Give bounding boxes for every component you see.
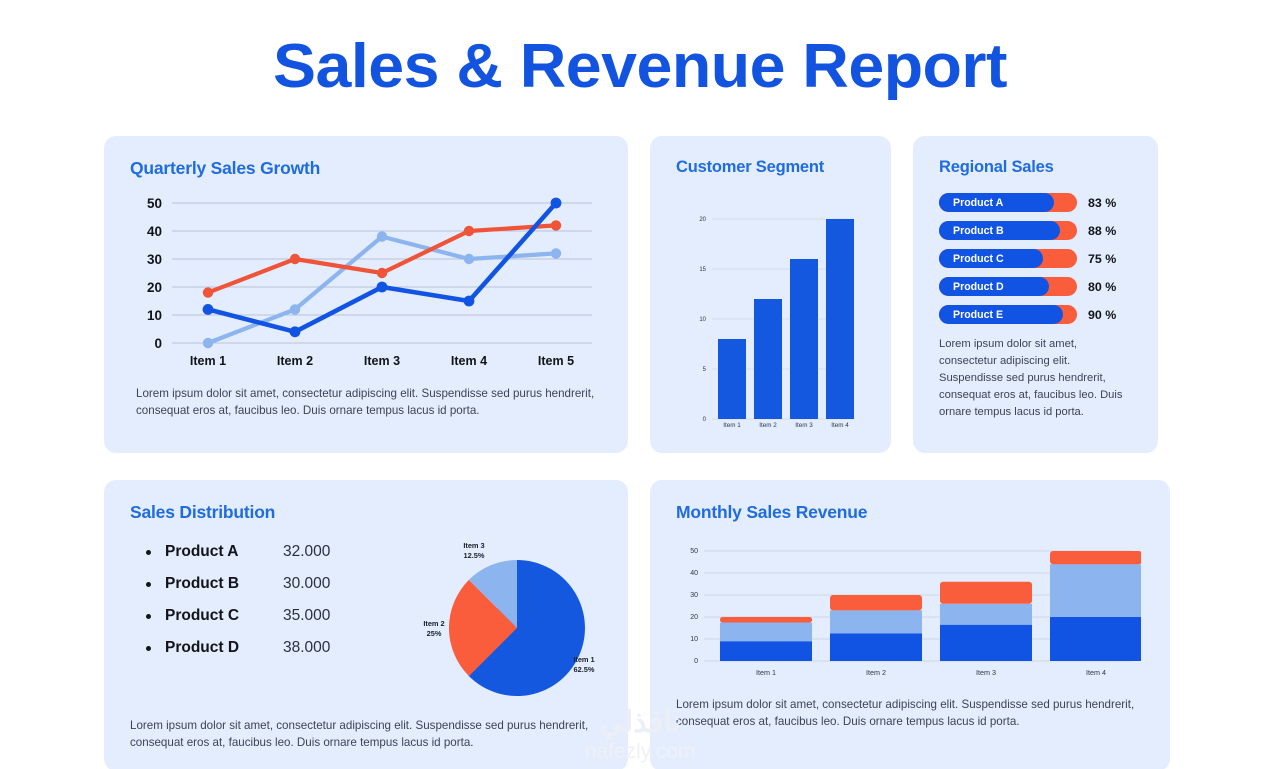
stack-seg-series-2 xyxy=(940,604,1032,625)
regional-bar-track: Product A xyxy=(939,193,1077,212)
pie-label-item-1-name: Item 1 xyxy=(573,655,594,664)
y-tick-0: 0 xyxy=(154,336,162,351)
x-tick-item-4: Item 4 xyxy=(831,422,849,428)
y-tick-50: 50 xyxy=(147,196,162,211)
x-tick-item-2: Item 2 xyxy=(759,422,777,428)
y-tick-0: 0 xyxy=(694,658,698,665)
bullet-icon xyxy=(146,646,151,651)
stack-item-2 xyxy=(830,595,922,661)
regional-bar-value: 83 % xyxy=(1088,196,1116,210)
y-tick-10: 10 xyxy=(690,636,698,643)
list-item: Product B 30.000 xyxy=(130,575,412,593)
regional-bar-row[interactable]: Product C 75 % xyxy=(939,249,1132,268)
y-tick-15: 15 xyxy=(699,267,706,273)
stack-seg-series-3 xyxy=(940,582,1032,604)
pie-chart-sales-distribution: Item 3 12.5% Item 2 25% Item 1 62.5% xyxy=(412,535,602,715)
x-tick-item-5: Item 5 xyxy=(538,354,574,368)
regional-bar-fill: Product C xyxy=(939,249,1043,268)
regional-bar-fill: Product B xyxy=(939,221,1060,240)
y-tick-10: 10 xyxy=(147,308,162,323)
card-regional-sales: Regional Sales Product A 83 % Product B xyxy=(913,136,1158,453)
regional-bar-fill: Product D xyxy=(939,277,1049,296)
card-monthly-sales-revenue: Monthly Sales Revenue 50 40 30 xyxy=(650,480,1170,769)
stack-seg-series-1 xyxy=(940,625,1032,661)
y-tick-10: 10 xyxy=(699,317,706,323)
dashboard-row-bottom: Sales Distribution Product A 32.000 Prod… xyxy=(0,480,1280,769)
dashboard-row-top: Quarterly Sales Growth 50 4 xyxy=(0,136,1280,453)
y-tick-0: 0 xyxy=(703,417,707,423)
y-tick-30: 30 xyxy=(690,592,698,599)
product-value: 32.000 xyxy=(283,543,330,561)
x-tick-item-1: Item 1 xyxy=(723,422,741,428)
line-series-1 xyxy=(208,203,556,332)
y-tick-40: 40 xyxy=(690,570,698,577)
stack-item-3 xyxy=(940,582,1032,661)
product-value: 30.000 xyxy=(283,575,330,593)
x-tick-item-2: Item 2 xyxy=(277,354,313,368)
regional-bar-track: Product C xyxy=(939,249,1077,268)
stack-seg-series-1 xyxy=(1050,617,1141,661)
dashboard-page: Sales & Revenue Report Quarterly Sales G… xyxy=(0,0,1280,769)
bullet-icon xyxy=(146,582,151,587)
stack-seg-series-2 xyxy=(830,610,922,633)
stack-item-1 xyxy=(720,617,812,661)
card-title-segment: Customer Segment xyxy=(676,158,865,177)
x-tick-item-3: Item 3 xyxy=(795,422,813,428)
product-name: Product C xyxy=(165,607,283,625)
regional-bar-value: 88 % xyxy=(1088,224,1116,238)
regional-bar-fill: Product E xyxy=(939,305,1063,324)
line-chart-quarterly: 50 40 30 20 10 0 xyxy=(130,193,602,371)
regional-bar-track: Product B xyxy=(939,221,1077,240)
list-item: Product A 32.000 xyxy=(130,543,412,561)
regional-bar-label: Product B xyxy=(939,225,1004,237)
bullet-icon xyxy=(146,614,151,619)
product-name: Product B xyxy=(165,575,283,593)
regional-bar-value: 80 % xyxy=(1088,280,1116,294)
x-tick-item-4: Item 4 xyxy=(451,354,487,368)
regional-bar-value: 75 % xyxy=(1088,252,1116,266)
card-title-monthly: Monthly Sales Revenue xyxy=(676,502,1144,523)
card-note-distribution: Lorem ipsum dolor sit amet, consectetur … xyxy=(130,717,602,751)
bar-item-4 xyxy=(826,219,854,419)
x-tick-item-4: Item 4 xyxy=(1086,668,1106,677)
regional-bar-value: 90 % xyxy=(1088,308,1116,322)
y-tick-50: 50 xyxy=(690,548,698,555)
bar-item-2 xyxy=(754,299,782,419)
regional-bar-row[interactable]: Product A 83 % xyxy=(939,193,1132,212)
y-tick-5: 5 xyxy=(703,367,707,373)
x-tick-item-1: Item 1 xyxy=(190,354,226,368)
card-title-distribution: Sales Distribution xyxy=(130,502,602,523)
regional-bar-label: Product D xyxy=(939,281,1004,293)
regional-bar-track: Product E xyxy=(939,305,1077,324)
y-tick-20: 20 xyxy=(147,280,162,295)
bar-item-1 xyxy=(718,339,746,419)
card-sales-distribution: Sales Distribution Product A 32.000 Prod… xyxy=(104,480,628,769)
regional-bar-track: Product D xyxy=(939,277,1077,296)
pie-label-item-2-value: 25% xyxy=(427,629,442,638)
pie-label-item-3-value: 12.5% xyxy=(464,551,485,560)
pie-label-item-1-value: 62.5% xyxy=(574,665,595,674)
bar-item-3 xyxy=(790,259,818,419)
regional-bar-label: Product C xyxy=(939,253,1004,265)
regional-bars-list: Product A 83 % Product B 88 % xyxy=(939,193,1132,324)
x-tick-item-2: Item 2 xyxy=(866,668,886,677)
bar-chart-customer-segment: 20 15 10 5 0 Item 1 I xyxy=(676,203,865,433)
line-markers-series-1 xyxy=(203,198,562,338)
product-name: Product D xyxy=(165,639,283,657)
pie-label-item-2-name: Item 2 xyxy=(423,619,444,628)
regional-bar-row[interactable]: Product D 80 % xyxy=(939,277,1132,296)
y-tick-20: 20 xyxy=(699,217,706,223)
y-tick-30: 30 xyxy=(147,252,162,267)
stack-item-4 xyxy=(1050,551,1141,661)
card-note-quarterly: Lorem ipsum dolor sit amet, consectetur … xyxy=(130,385,602,419)
bullet-icon xyxy=(146,550,151,555)
stack-seg-series-2 xyxy=(720,623,812,642)
distribution-list: Product A 32.000 Product B 30.000 Produc… xyxy=(130,535,412,715)
regional-bar-label: Product E xyxy=(939,309,1003,321)
card-customer-segment: Customer Segment 20 15 10 5 xyxy=(650,136,891,453)
distribution-body: Product A 32.000 Product B 30.000 Produc… xyxy=(130,535,602,715)
product-name: Product A xyxy=(165,543,283,561)
card-title-regional: Regional Sales xyxy=(939,158,1132,177)
list-item: Product D 38.000 xyxy=(130,639,412,657)
stack-seg-series-3 xyxy=(720,617,812,623)
regional-bar-label: Product A xyxy=(939,197,1003,209)
stack-seg-series-1 xyxy=(720,641,812,661)
stack-seg-series-3 xyxy=(1050,551,1141,564)
regional-bar-row[interactable]: Product E 90 % xyxy=(939,305,1132,324)
stack-seg-series-3 xyxy=(830,595,922,610)
card-note-regional: Lorem ipsum dolor sit amet, consectetur … xyxy=(939,336,1132,421)
card-quarterly-sales-growth: Quarterly Sales Growth 50 4 xyxy=(104,136,628,453)
product-value: 35.000 xyxy=(283,607,330,625)
x-tick-item-3: Item 3 xyxy=(364,354,400,368)
stacked-bar-chart-monthly: 50 40 30 20 10 0 xyxy=(676,539,1144,684)
regional-bar-row[interactable]: Product B 88 % xyxy=(939,221,1132,240)
stack-seg-series-2 xyxy=(1050,564,1141,617)
pie-label-item-3-name: Item 3 xyxy=(463,541,484,550)
page-title: Sales & Revenue Report xyxy=(0,0,1280,98)
x-tick-item-1: Item 1 xyxy=(756,668,776,677)
y-tick-40: 40 xyxy=(147,224,162,239)
list-item: Product C 35.000 xyxy=(130,607,412,625)
product-value: 38.000 xyxy=(283,639,330,657)
regional-bar-fill: Product A xyxy=(939,193,1054,212)
card-title-quarterly: Quarterly Sales Growth xyxy=(130,158,602,179)
x-tick-item-3: Item 3 xyxy=(976,668,996,677)
card-note-monthly: Lorem ipsum dolor sit amet, consectetur … xyxy=(676,696,1144,730)
y-tick-20: 20 xyxy=(690,614,698,621)
stack-seg-series-1 xyxy=(830,634,922,662)
